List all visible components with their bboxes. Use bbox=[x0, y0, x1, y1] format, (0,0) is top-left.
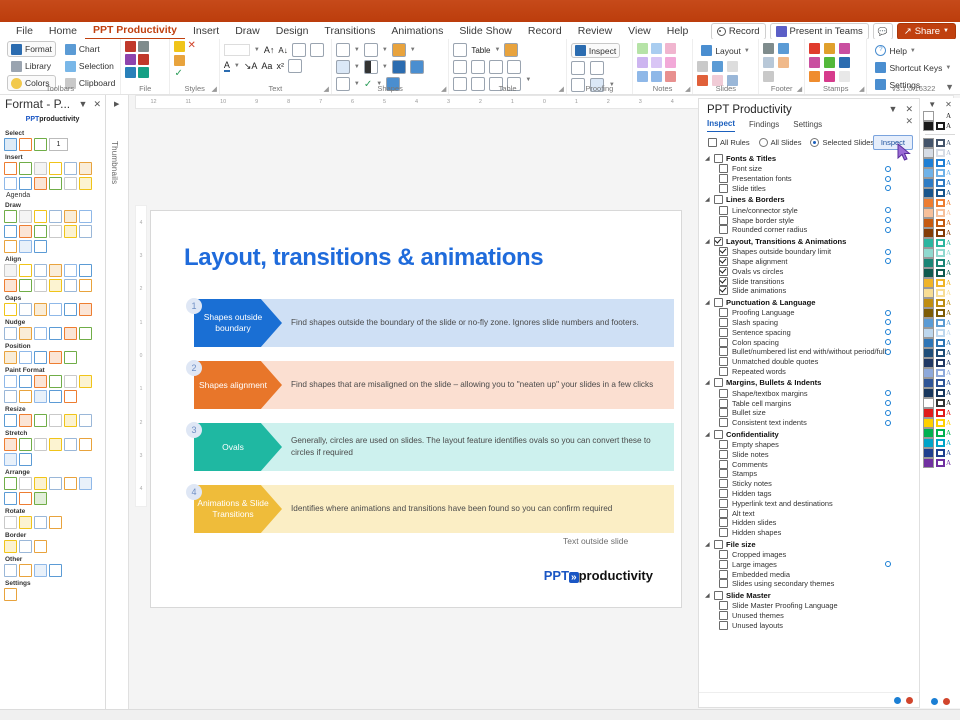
outline-color-swatch[interactable] bbox=[936, 259, 945, 267]
font-color-swatch[interactable]: A bbox=[946, 169, 951, 177]
fill-color-swatch[interactable] bbox=[923, 418, 934, 428]
fill-color-swatch[interactable] bbox=[923, 438, 934, 448]
inspect-tab-settings[interactable]: Settings bbox=[793, 120, 822, 132]
format-tool-icon[interactable] bbox=[19, 327, 32, 340]
format-tool-icon[interactable] bbox=[79, 327, 92, 340]
slide-blank-icon[interactable] bbox=[727, 61, 738, 72]
format-tool-icon[interactable] bbox=[79, 177, 92, 190]
palette-row[interactable]: A bbox=[923, 448, 957, 458]
inspect-rule-item[interactable]: Hidden tags bbox=[703, 489, 915, 499]
checkbox-icon[interactable] bbox=[719, 570, 728, 579]
outline-color-swatch[interactable] bbox=[936, 439, 945, 447]
shape-transparency-icon[interactable] bbox=[364, 60, 378, 74]
footer-remove-icon[interactable] bbox=[763, 71, 774, 82]
checkbox-icon[interactable] bbox=[719, 489, 728, 498]
checkbox-icon[interactable] bbox=[719, 499, 728, 508]
inspect-group-header[interactable]: ◢Confidentiality bbox=[703, 429, 915, 440]
fill-color-swatch[interactable] bbox=[923, 298, 934, 308]
thumbnails-rail[interactable]: ▶ Thumbnails bbox=[106, 95, 129, 710]
checkbox-icon[interactable] bbox=[719, 174, 728, 183]
palette-row[interactable]: A bbox=[923, 111, 957, 121]
table-merge-icon[interactable] bbox=[489, 60, 503, 74]
checkbox-icon[interactable] bbox=[719, 450, 728, 459]
ribbon-tab-strip[interactable]: FileHomePPT ProductivityInsertDrawDesign… bbox=[0, 22, 960, 39]
slide-feature-row[interactable]: 1Shapes outside boundaryFind shapes outs… bbox=[186, 299, 674, 347]
gear-icon[interactable] bbox=[885, 339, 891, 345]
note-edit-icon[interactable] bbox=[651, 71, 662, 82]
inspect-rule-item[interactable]: Sticky notes bbox=[703, 479, 915, 489]
text-icon-row-1[interactable]: ▼ A↑ A↓ bbox=[224, 43, 324, 57]
chevron-down-icon[interactable]: ▼ bbox=[494, 47, 500, 53]
align-text-icon[interactable] bbox=[292, 43, 306, 57]
file-icon-row-2[interactable] bbox=[125, 54, 149, 65]
format-tool-icon[interactable] bbox=[4, 390, 17, 403]
triangle-expand-icon[interactable]: ◢ bbox=[705, 592, 711, 599]
ribbon[interactable]: Format Library Colors Chart bbox=[0, 39, 960, 95]
inspect-rule-item[interactable]: Stamps bbox=[703, 469, 915, 479]
outline-color-swatch[interactable] bbox=[936, 179, 945, 187]
fill-color-swatch[interactable] bbox=[923, 368, 934, 378]
shapes-dialog-launcher-icon[interactable]: ◢ bbox=[441, 85, 446, 93]
fill-color-swatch[interactable] bbox=[923, 318, 934, 328]
font-color-swatch[interactable]: A bbox=[946, 122, 951, 130]
format-tool-icon[interactable] bbox=[19, 138, 32, 151]
gear-icon[interactable] bbox=[885, 176, 891, 182]
sticky-note-blue-icon[interactable] bbox=[651, 43, 662, 54]
checkbox-icon[interactable] bbox=[714, 540, 723, 549]
outline-color-swatch[interactable] bbox=[936, 319, 945, 327]
inspect-rule-item[interactable]: Shape alignment bbox=[703, 257, 915, 267]
format-tool-icon[interactable] bbox=[79, 438, 92, 451]
radio-icon[interactable] bbox=[810, 138, 819, 147]
triangle-expand-icon[interactable]: ◢ bbox=[705, 379, 711, 386]
file-icon-row-1[interactable] bbox=[125, 41, 149, 52]
format-tool-icon[interactable] bbox=[19, 516, 32, 529]
font-color-swatch[interactable]: A bbox=[946, 449, 951, 457]
stamp-draft-icon[interactable] bbox=[824, 43, 835, 54]
inspect-rule-item[interactable]: Slide notes bbox=[703, 449, 915, 459]
font-color-swatch[interactable]: A bbox=[946, 239, 951, 247]
palette-row[interactable]: A bbox=[923, 308, 957, 318]
chevron-down-icon[interactable]: ▼ bbox=[254, 47, 260, 53]
format-tool-icon[interactable] bbox=[19, 264, 32, 277]
palette-row[interactable]: A bbox=[923, 408, 957, 418]
close-icon[interactable]: ✕ bbox=[945, 100, 952, 109]
font-color-swatch[interactable]: A bbox=[946, 409, 951, 417]
stamp-internal-icon[interactable] bbox=[839, 43, 850, 54]
palette-row[interactable]: A bbox=[923, 418, 957, 428]
format-section-tools-arrange[interactable] bbox=[4, 477, 101, 505]
inspect-rule-item[interactable]: Hidden slides bbox=[703, 518, 915, 528]
format-tool-icon[interactable] bbox=[4, 564, 17, 577]
checkbox-icon[interactable] bbox=[719, 418, 728, 427]
format-tool-icon[interactable] bbox=[19, 375, 32, 388]
format-tool-icon[interactable] bbox=[19, 177, 32, 190]
format-tool-icon[interactable] bbox=[4, 516, 17, 529]
font-color-swatch[interactable]: A bbox=[946, 299, 951, 307]
inspect-tab-inspect[interactable]: Inspect bbox=[707, 119, 735, 132]
checkbox-icon[interactable] bbox=[719, 267, 728, 276]
fill-color-swatch[interactable] bbox=[923, 428, 934, 438]
checkbox-icon[interactable] bbox=[719, 164, 728, 173]
format-tool-icon[interactable] bbox=[19, 210, 32, 223]
checkbox-icon[interactable] bbox=[719, 357, 728, 366]
outline-color-swatch[interactable] bbox=[936, 279, 945, 287]
gear-icon[interactable] bbox=[885, 319, 891, 325]
chevron-right-icon[interactable]: ▶ bbox=[114, 100, 119, 108]
inspect-rule-item[interactable]: Proofing Language bbox=[703, 308, 915, 318]
palette-row[interactable]: A bbox=[923, 458, 957, 468]
checkbox-icon[interactable] bbox=[714, 591, 723, 600]
inspect-rule-item[interactable]: Line/connector style bbox=[703, 205, 915, 215]
close-icon[interactable]: ✕ bbox=[905, 104, 913, 115]
format-tool-icon[interactable] bbox=[4, 264, 17, 277]
format-tool-icon[interactable] bbox=[64, 477, 77, 490]
notes-icon-row-1[interactable] bbox=[637, 43, 676, 54]
inspect-rule-item[interactable]: Slide animations bbox=[703, 286, 915, 296]
inspect-rules-list[interactable]: ◢Fonts & TitlesFont sizePresentation fon… bbox=[699, 152, 919, 692]
format-tool-icon[interactable] bbox=[34, 477, 47, 490]
format-tool-icon[interactable] bbox=[4, 327, 17, 340]
gear-icon[interactable] bbox=[885, 258, 891, 264]
outline-color-swatch[interactable] bbox=[936, 159, 945, 167]
gear-icon[interactable] bbox=[885, 207, 891, 213]
checkbox-icon[interactable] bbox=[719, 257, 728, 266]
outline-color-swatch[interactable] bbox=[936, 349, 945, 357]
checkbox-icon[interactable] bbox=[714, 195, 723, 204]
outline-color-swatch[interactable] bbox=[936, 239, 945, 247]
outline-color-swatch[interactable] bbox=[936, 199, 945, 207]
outline-color-swatch[interactable] bbox=[936, 169, 945, 177]
palette-row[interactable]: A bbox=[923, 218, 957, 228]
format-tool-icon[interactable] bbox=[79, 279, 92, 292]
inspect-rule-item[interactable]: Slides using secondary themes bbox=[703, 579, 915, 589]
inspect-rule-item[interactable]: Unused themes bbox=[703, 610, 915, 620]
chart-button[interactable]: Chart bbox=[61, 41, 119, 57]
checkbox-icon[interactable] bbox=[719, 184, 728, 193]
format-tool-icon[interactable] bbox=[4, 240, 17, 253]
format-section-tools-border[interactable] bbox=[4, 540, 101, 553]
chevron-down-icon[interactable]: ▼ bbox=[354, 64, 360, 70]
slide-section-icon[interactable] bbox=[712, 61, 723, 72]
shapes-icon-row-1[interactable]: ▼ ▼ ▼ bbox=[336, 43, 416, 57]
inspect-rule-item[interactable]: Alt text bbox=[703, 508, 915, 518]
format-tool-icon[interactable] bbox=[4, 540, 17, 553]
checkbox-icon[interactable] bbox=[719, 440, 728, 449]
font-color-swatch[interactable]: A bbox=[946, 289, 951, 297]
fill-color-swatch[interactable] bbox=[923, 228, 934, 238]
format-tool-icon[interactable] bbox=[34, 516, 47, 529]
format-tool-icon[interactable] bbox=[4, 588, 17, 601]
font-color-swatch[interactable]: A bbox=[946, 319, 951, 327]
chevron-down-icon[interactable]: ▼ bbox=[410, 47, 416, 53]
gear-icon[interactable] bbox=[885, 217, 891, 223]
format-tool-icon[interactable] bbox=[4, 303, 17, 316]
format-tool-icon[interactable] bbox=[49, 279, 62, 292]
outline-color-swatch[interactable] bbox=[936, 359, 945, 367]
checkbox-icon[interactable] bbox=[719, 338, 728, 347]
sticky-note-pink-icon[interactable] bbox=[665, 43, 676, 54]
checkbox-icon[interactable] bbox=[719, 216, 728, 225]
format-tool-icon[interactable] bbox=[4, 492, 17, 505]
inspect-rule-item[interactable]: Shape border style bbox=[703, 215, 915, 225]
fill-color-swatch[interactable] bbox=[923, 178, 934, 188]
format-tool-icon[interactable] bbox=[79, 414, 92, 427]
ribbon-tab-slide-show[interactable]: Slide Show bbox=[451, 23, 520, 39]
styles-icon-row-3[interactable]: ✓ bbox=[174, 69, 182, 79]
font-color-swatch[interactable]: A bbox=[946, 369, 951, 377]
chevron-down-icon[interactable]: ▼ bbox=[382, 64, 388, 70]
format-tool-icon[interactable] bbox=[34, 492, 47, 505]
format-tool-icon[interactable] bbox=[19, 492, 32, 505]
format-tool-icon[interactable] bbox=[4, 138, 17, 151]
decrease-font-icon[interactable]: A↓ bbox=[278, 46, 287, 55]
text-color-icon[interactable]: A bbox=[224, 60, 230, 72]
format-panel-sections[interactable]: Select1InsertAgendaDrawAlignGapsNudgePos… bbox=[0, 127, 105, 710]
format-tool-icon[interactable] bbox=[79, 162, 92, 175]
fill-color-swatch[interactable] bbox=[923, 198, 934, 208]
outline-color-swatch[interactable] bbox=[936, 369, 945, 377]
inspect-rule-item[interactable]: Hyperlink text and destinations bbox=[703, 498, 915, 508]
gear-icon[interactable] bbox=[885, 349, 891, 355]
gear-icon[interactable] bbox=[885, 185, 891, 191]
radio-icon[interactable] bbox=[759, 138, 768, 147]
inspect-rule-item[interactable]: Rounded corner radius bbox=[703, 225, 915, 235]
gear-icon[interactable] bbox=[885, 329, 891, 335]
format-tool-icon[interactable] bbox=[49, 264, 62, 277]
format-tool-icon[interactable] bbox=[19, 162, 32, 175]
format-tool-icon[interactable] bbox=[79, 225, 92, 238]
format-tool-icon[interactable] bbox=[49, 327, 62, 340]
delete-style-icon[interactable]: ✕ bbox=[187, 41, 195, 52]
format-panel-header-actions[interactable]: ▼ ✕ bbox=[79, 99, 101, 110]
font-color-swatch[interactable]: A bbox=[946, 389, 951, 397]
format-tool-icon[interactable] bbox=[4, 162, 17, 175]
format-tool-icon[interactable] bbox=[49, 225, 62, 238]
format-tool-icon[interactable] bbox=[4, 453, 17, 466]
inspect-group-header[interactable]: ◢Layout, Transitions & Animations bbox=[703, 236, 915, 247]
inspect-rule-item[interactable]: Hidden shapes bbox=[703, 528, 915, 538]
outline-color-swatch[interactable] bbox=[936, 389, 945, 397]
text-outside-slide[interactable]: Text outside slide bbox=[563, 535, 628, 547]
outline-color-swatch[interactable] bbox=[936, 409, 945, 417]
ribbon-tab-review[interactable]: Review bbox=[570, 23, 620, 39]
inspect-panel-header-actions[interactable]: ▼ ✕ bbox=[889, 104, 913, 115]
triangle-expand-icon[interactable]: ◢ bbox=[705, 299, 711, 306]
palette-row[interactable]: A bbox=[923, 268, 957, 278]
notes-icon-row-3[interactable] bbox=[637, 71, 676, 82]
slides-icon-row-2[interactable] bbox=[697, 61, 738, 72]
font-color-swatch[interactable]: A bbox=[946, 309, 951, 317]
outline-color-swatch[interactable] bbox=[936, 379, 945, 387]
record-button[interactable]: Record bbox=[711, 23, 766, 40]
font-color-swatch[interactable]: A bbox=[946, 419, 951, 427]
format-tool-icon[interactable] bbox=[49, 564, 62, 577]
format-tool-icon[interactable] bbox=[19, 414, 32, 427]
outline-color-swatch[interactable] bbox=[936, 449, 945, 457]
table-insert-row-icon[interactable] bbox=[453, 60, 467, 74]
gear-icon[interactable] bbox=[885, 420, 891, 426]
inspect-rule-item[interactable]: Slash spacing bbox=[703, 318, 915, 328]
window-actions[interactable]: Record Present in Teams 💬 ↗ Share ▼ bbox=[711, 23, 956, 40]
palette-row[interactable]: A bbox=[923, 318, 957, 328]
outline-color-swatch[interactable] bbox=[936, 139, 945, 147]
change-case-icon[interactable]: Aa bbox=[261, 61, 272, 71]
palette-row[interactable]: A bbox=[923, 121, 957, 131]
slide-title[interactable]: Layout, transitions & animations bbox=[184, 244, 543, 272]
table-dialog-launcher-icon[interactable]: ◢ bbox=[558, 85, 563, 93]
fill-color-swatch[interactable] bbox=[923, 328, 934, 338]
help-button[interactable]: ? Help ▼ bbox=[871, 43, 919, 58]
inspect-scope-options[interactable]: All RulesAll SlidesSelected SlidesInspec… bbox=[699, 132, 919, 152]
sticky-note-green-icon[interactable] bbox=[637, 43, 648, 54]
format-tool-icon[interactable] bbox=[64, 351, 77, 364]
font-size-box[interactable] bbox=[224, 44, 250, 56]
chevron-down-icon[interactable]: ▼ bbox=[945, 65, 951, 71]
compare-files-icon[interactable] bbox=[125, 67, 136, 78]
format-tool-icon[interactable] bbox=[34, 414, 47, 427]
format-tool-icon[interactable] bbox=[19, 453, 32, 466]
checkbox-icon[interactable] bbox=[719, 528, 728, 537]
checkbox-icon[interactable] bbox=[719, 206, 728, 215]
slide-canvas[interactable]: Layout, transitions & animations 1Shapes… bbox=[151, 211, 681, 607]
font-color-swatch[interactable]: A bbox=[946, 159, 951, 167]
format-section-tools-insert[interactable]: Agenda bbox=[4, 162, 101, 199]
open-file-icon[interactable] bbox=[125, 41, 136, 52]
footer-dialog-launcher-icon[interactable]: ◢ bbox=[797, 85, 802, 93]
palette-row[interactable]: A bbox=[923, 208, 957, 218]
chevron-down-icon[interactable]: ▼ bbox=[234, 63, 240, 69]
checkbox-icon[interactable] bbox=[719, 509, 728, 518]
footer-icon-row-3[interactable] bbox=[763, 71, 774, 82]
stamps-icon-row-2[interactable] bbox=[809, 57, 850, 68]
inspect-rule-item[interactable]: Shapes outside boundary limit bbox=[703, 247, 915, 257]
stamp-confidential-icon[interactable] bbox=[809, 43, 820, 54]
checkbox-icon[interactable] bbox=[719, 550, 728, 559]
ribbon-tab-ppt-productivity[interactable]: PPT Productivity bbox=[85, 22, 185, 40]
fill-color-swatch[interactable] bbox=[923, 248, 934, 258]
slide-feature-row[interactable]: 2Shapes alignmentFind shapes that are mi… bbox=[186, 361, 674, 409]
format-tool-icon[interactable] bbox=[34, 303, 47, 316]
inspect-rule-item[interactable]: Bullet size bbox=[703, 408, 915, 418]
format-tool-icon[interactable] bbox=[19, 390, 32, 403]
inspect-rule-item[interactable]: Sentence spacing bbox=[703, 327, 915, 337]
ribbon-tab-insert[interactable]: Insert bbox=[185, 23, 227, 39]
ribbon-tab-draw[interactable]: Draw bbox=[227, 23, 268, 39]
palette-row[interactable]: A bbox=[923, 378, 957, 388]
format-section-tools-other[interactable] bbox=[4, 564, 101, 577]
format-tool-icon[interactable] bbox=[19, 351, 32, 364]
outline-color-swatch[interactable] bbox=[936, 122, 945, 130]
fill-color-swatch[interactable] bbox=[923, 458, 934, 468]
fill-color-swatch[interactable] bbox=[923, 338, 934, 348]
stamp-custom-icon[interactable] bbox=[839, 57, 850, 68]
font-color-swatch[interactable]: A bbox=[946, 429, 951, 437]
fill-color-swatch[interactable] bbox=[923, 258, 934, 268]
format-tool-icon[interactable] bbox=[19, 564, 32, 577]
increase-font-icon[interactable]: A↑ bbox=[264, 45, 275, 55]
format-section-tools-rotate[interactable] bbox=[4, 516, 101, 529]
outline-color-swatch[interactable] bbox=[936, 399, 945, 407]
format-tool-icon[interactable] bbox=[4, 438, 17, 451]
format-tool-icon[interactable] bbox=[49, 477, 62, 490]
styles-dialog-launcher-icon[interactable]: ◢ bbox=[212, 85, 217, 93]
format-tool-icon[interactable] bbox=[34, 279, 47, 292]
outline-color-swatch[interactable] bbox=[936, 419, 945, 427]
format-tool-icon[interactable] bbox=[4, 177, 17, 190]
slide-number-stepper[interactable]: 1 bbox=[49, 138, 68, 151]
fill-color-swatch[interactable] bbox=[923, 348, 934, 358]
checkbox-icon[interactable] bbox=[719, 611, 728, 620]
outline-color-swatch[interactable] bbox=[936, 112, 945, 120]
table-icon[interactable] bbox=[453, 43, 467, 57]
font-color-swatch[interactable]: A bbox=[946, 399, 951, 407]
fill-color-swatch[interactable] bbox=[923, 398, 934, 408]
inspect-rule-item[interactable]: Font size bbox=[703, 164, 915, 174]
format-tool-icon[interactable] bbox=[4, 414, 17, 427]
format-section-tools-draw[interactable] bbox=[4, 210, 101, 253]
edit-style-icon[interactable] bbox=[174, 41, 185, 52]
selection-button[interactable]: Selection bbox=[61, 58, 119, 74]
table-icon-row-2[interactable] bbox=[453, 60, 521, 74]
notes-dialog-launcher-icon[interactable]: ◢ bbox=[685, 85, 690, 93]
comments-button[interactable]: 💬 bbox=[873, 23, 893, 40]
palette-row[interactable]: A bbox=[923, 288, 957, 298]
format-tool-icon[interactable] bbox=[34, 264, 47, 277]
format-tool-icon[interactable] bbox=[49, 210, 62, 223]
font-color-swatch[interactable]: A bbox=[946, 279, 951, 287]
triangle-expand-icon[interactable]: ◢ bbox=[705, 431, 711, 438]
font-color-swatch[interactable]: A bbox=[946, 149, 951, 157]
format-panel[interactable]: Format - P... ▼ ✕ PPTproductivity Select… bbox=[0, 95, 106, 710]
triangle-expand-icon[interactable]: ◢ bbox=[705, 238, 711, 245]
checkbox-icon[interactable] bbox=[714, 378, 723, 387]
palette-swatch-rows[interactable]: AAAAAAAAAAAAAAAAAAAAAAAAAAAAAAAAAAA bbox=[920, 111, 960, 694]
format-tool-icon[interactable] bbox=[34, 138, 47, 151]
inspect-panel-tabs[interactable]: ✕ InspectFindingsSettings bbox=[699, 116, 919, 132]
footer-date-icon[interactable] bbox=[778, 57, 789, 68]
fill-color-swatch[interactable] bbox=[923, 238, 934, 248]
format-tool-icon[interactable] bbox=[49, 438, 62, 451]
font-color-swatch[interactable]: A bbox=[946, 379, 951, 387]
format-tool-icon[interactable] bbox=[34, 564, 47, 577]
format-tool-icon[interactable] bbox=[4, 225, 17, 238]
font-color-swatch[interactable]: A bbox=[946, 179, 951, 187]
inspect-rule-item[interactable]: Colon spacing bbox=[703, 337, 915, 347]
format-tool-icon[interactable] bbox=[79, 210, 92, 223]
sticky-note-violet-icon[interactable] bbox=[637, 57, 648, 68]
gear-icon[interactable] bbox=[885, 400, 891, 406]
outline-color-swatch[interactable] bbox=[936, 249, 945, 257]
palette-row[interactable]: A bbox=[923, 348, 957, 358]
collapse-ribbon-icon[interactable]: ▼ bbox=[945, 82, 954, 92]
outline-color-swatch[interactable] bbox=[936, 149, 945, 157]
fill-color-swatch[interactable] bbox=[923, 288, 934, 298]
export-file-icon[interactable] bbox=[138, 54, 149, 65]
palette-row[interactable]: A bbox=[923, 198, 957, 208]
inspect-rule-item[interactable]: Large images bbox=[703, 559, 915, 569]
palette-row[interactable]: A bbox=[923, 228, 957, 238]
inspect-rule-item[interactable]: Comments bbox=[703, 459, 915, 469]
format-tool-icon[interactable] bbox=[34, 225, 47, 238]
inspect-rule-item[interactable]: Empty shapes bbox=[703, 440, 915, 450]
checkbox-icon[interactable] bbox=[719, 621, 728, 630]
triangle-expand-icon[interactable]: ◢ bbox=[705, 541, 711, 548]
chevron-down-icon[interactable]: ▼ bbox=[382, 47, 388, 53]
outline-color-swatch[interactable] bbox=[936, 219, 945, 227]
proofing-ignore-icon[interactable] bbox=[590, 61, 604, 75]
shape-fill-icon[interactable] bbox=[336, 43, 350, 57]
